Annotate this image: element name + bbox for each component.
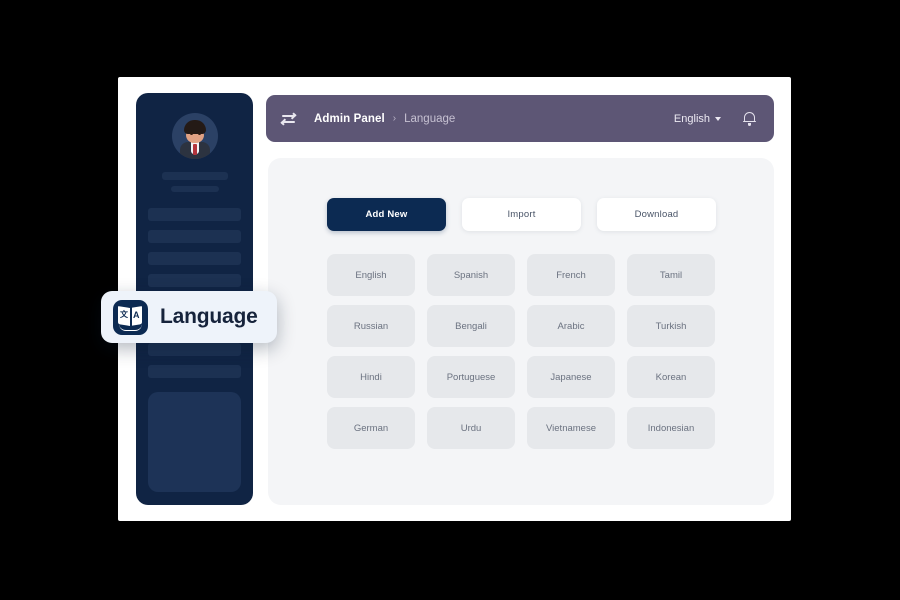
language-selector-label: English [674, 113, 710, 125]
sidebar-footer-placeholder[interactable] [148, 365, 241, 378]
language-tile[interactable]: Turkish [627, 305, 715, 347]
topbar-right-group: English [674, 111, 756, 126]
top-header-bar: Admin Panel › Language English [266, 95, 774, 142]
translate-icon-cjk-glyph: 文 [120, 311, 128, 319]
swap-icon[interactable] [282, 113, 297, 125]
language-tile[interactable]: Vietnamese [527, 407, 615, 449]
sidebar-item-placeholder[interactable] [148, 208, 241, 221]
chevron-down-icon [715, 117, 721, 121]
sidebar-item-placeholder[interactable] [148, 274, 241, 287]
language-tile[interactable]: Tamil [627, 254, 715, 296]
language-tile[interactable]: English [327, 254, 415, 296]
breadcrumb-language: Language [404, 113, 455, 125]
translate-icon: 文 A [113, 300, 148, 335]
language-tile[interactable]: Urdu [427, 407, 515, 449]
language-tile[interactable]: Japanese [527, 356, 615, 398]
badge-label: Language [160, 305, 258, 329]
language-tile[interactable]: Arabic [527, 305, 615, 347]
avatar-eye-right [198, 132, 201, 135]
language-tile[interactable]: Portuguese [427, 356, 515, 398]
language-tile[interactable]: Spanish [427, 254, 515, 296]
avatar-wrapper [148, 113, 241, 159]
action-button-row: Add New Import Download [327, 198, 716, 231]
avatar-eye-left [190, 132, 193, 135]
language-tile[interactable]: Hindi [327, 356, 415, 398]
language-tile[interactable]: French [527, 254, 615, 296]
language-tile[interactable]: Indonesian [627, 407, 715, 449]
language-tile[interactable]: Bengali [427, 305, 515, 347]
sidebar-promo-card[interactable] [148, 392, 241, 492]
language-selector[interactable]: English [674, 113, 721, 125]
language-feature-badge: 文 A Language [101, 291, 277, 343]
language-tile[interactable]: Russian [327, 305, 415, 347]
breadcrumb-admin-panel[interactable]: Admin Panel [314, 113, 385, 125]
avatar[interactable] [172, 113, 218, 159]
bell-icon[interactable] [743, 111, 756, 126]
translate-icon-latin-glyph: A [133, 311, 140, 320]
download-button[interactable]: Download [597, 198, 716, 231]
screenshot-stage: Admin Panel › Language English Add New I… [0, 0, 900, 600]
import-button[interactable]: Import [462, 198, 581, 231]
language-tile[interactable]: Korean [627, 356, 715, 398]
language-tile[interactable]: German [327, 407, 415, 449]
avatar-tie [193, 144, 197, 155]
sidebar-item-placeholder[interactable] [148, 252, 241, 265]
sidebar-item-placeholder[interactable] [148, 230, 241, 243]
language-content-card: Add New Import Download English Spanish … [268, 158, 774, 505]
avatar-hair [184, 120, 206, 134]
language-grid: English Spanish French Tamil Russian Ben… [327, 254, 715, 449]
sidebar-role-placeholder [171, 186, 219, 192]
sidebar-footer-placeholder[interactable] [148, 343, 241, 356]
breadcrumb-separator: › [393, 113, 396, 124]
sidebar-username-placeholder [162, 172, 228, 180]
add-new-button[interactable]: Add New [327, 198, 446, 231]
